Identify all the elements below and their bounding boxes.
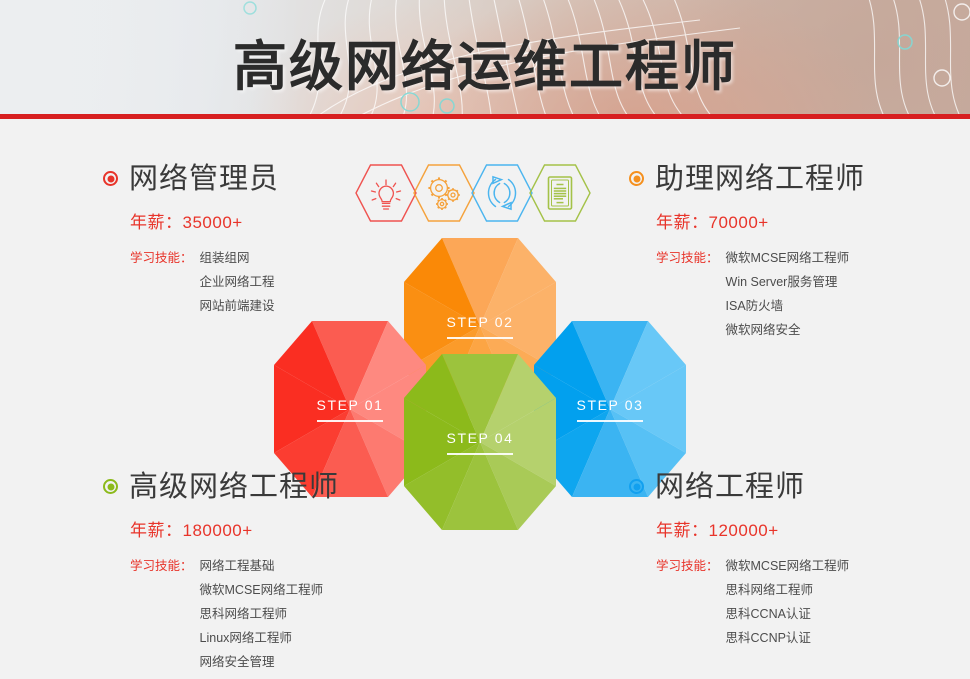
infographic-page: 高级网络运维工程师 — [0, 0, 970, 679]
bullet-icon — [103, 171, 118, 186]
skill-item: 思科网络工程师 — [200, 602, 324, 626]
role-block-network-engineer: 网络工程师 年薪：120000+ 学习技能： 微软MCSE网络工程师 思科网络工… — [629, 472, 849, 650]
skills-list: 微软MCSE网络工程师 思科网络工程师 思科CCNA认证 思科CCNP认证 — [726, 554, 850, 650]
role-heading: 助理网络工程师 — [629, 164, 865, 193]
bullet-icon — [103, 479, 118, 494]
bullet-icon — [629, 479, 644, 494]
skill-item: ISA防火墙 — [726, 294, 850, 318]
skill-item: Linux网络工程师 — [200, 626, 324, 650]
role-heading: 高级网络工程师 — [103, 472, 339, 501]
skills-group: 学习技能： 网络工程基础 微软MCSE网络工程师 思科网络工程师 Linux网络… — [130, 554, 339, 674]
header-banner: 高级网络运维工程师 — [0, 0, 970, 114]
skill-item: 网络安全管理 — [200, 650, 324, 674]
skill-item: 微软MCSE网络工程师 — [726, 554, 850, 578]
skills-group: 学习技能： 微软MCSE网络工程师 Win Server服务管理 ISA防火墙 … — [656, 246, 865, 342]
skill-item: 组装组网 — [200, 246, 275, 270]
icon-hexagon-row — [355, 163, 595, 223]
skills-list: 组装组网 企业网络工程 网站前端建设 — [200, 246, 275, 318]
role-block-assistant-network-engineer: 助理网络工程师 年薪：70000+ 学习技能： 微软MCSE网络工程师 Win … — [629, 164, 865, 342]
role-heading: 网络工程师 — [629, 472, 849, 501]
step-04-label: STEP 04 — [404, 430, 556, 446]
step-04-hexagon[interactable]: STEP 04 — [404, 354, 556, 530]
role-title: 高级网络工程师 — [129, 472, 339, 501]
salary-text: 年薪：70000+ — [656, 208, 865, 233]
salary-text: 年薪：180000+ — [130, 516, 339, 541]
role-title: 助理网络工程师 — [655, 164, 865, 193]
skills-group: 学习技能： 微软MCSE网络工程师 思科网络工程师 思科CCNA认证 思科CCN… — [656, 554, 849, 650]
skill-item: 网站前端建设 — [200, 294, 275, 318]
header-accent-bar — [0, 114, 970, 119]
step-02-underline — [447, 337, 513, 339]
role-heading: 网络管理员 — [103, 164, 279, 193]
skill-item: 思科CCNP认证 — [726, 626, 850, 650]
step-03-label: STEP 03 — [534, 397, 686, 413]
skill-item: 微软网络安全 — [726, 318, 850, 342]
skill-item: 思科网络工程师 — [726, 578, 850, 602]
skills-label: 学习技能： — [656, 246, 719, 342]
skills-group: 学习技能： 组装组网 企业网络工程 网站前端建设 — [130, 246, 279, 318]
skills-label: 学习技能： — [130, 246, 193, 318]
page-title: 高级网络运维工程师 — [0, 22, 970, 101]
skills-list: 微软MCSE网络工程师 Win Server服务管理 ISA防火墙 微软网络安全 — [726, 246, 850, 342]
skill-item: Win Server服务管理 — [726, 270, 850, 294]
skills-label: 学习技能： — [130, 554, 193, 674]
role-title: 网络工程师 — [655, 472, 805, 501]
salary-text: 年薪：120000+ — [656, 516, 849, 541]
step-03-underline — [577, 420, 643, 422]
role-block-network-administrator: 网络管理员 年薪：35000+ 学习技能： 组装组网 企业网络工程 网站前端建设 — [103, 164, 279, 318]
step-04-underline — [447, 453, 513, 455]
skill-item: 网络工程基础 — [200, 554, 324, 578]
role-title: 网络管理员 — [129, 164, 279, 193]
refresh-icon — [471, 163, 533, 223]
step-01-underline — [317, 420, 383, 422]
skill-item: 思科CCNA认证 — [726, 602, 850, 626]
role-block-senior-network-engineer: 高级网络工程师 年薪：180000+ 学习技能： 网络工程基础 微软MCSE网络… — [103, 472, 339, 674]
salary-text: 年薪：35000+ — [130, 208, 279, 233]
document-icon — [529, 163, 591, 223]
gears-icon — [413, 163, 475, 223]
skill-item: 微软MCSE网络工程师 — [200, 578, 324, 602]
skills-list: 网络工程基础 微软MCSE网络工程师 思科网络工程师 Linux网络工程师 网络… — [200, 554, 324, 674]
lightbulb-icon — [355, 163, 417, 223]
skills-label: 学习技能： — [656, 554, 719, 650]
skill-item: 企业网络工程 — [200, 270, 275, 294]
bullet-icon — [629, 171, 644, 186]
skill-item: 微软MCSE网络工程师 — [726, 246, 850, 270]
